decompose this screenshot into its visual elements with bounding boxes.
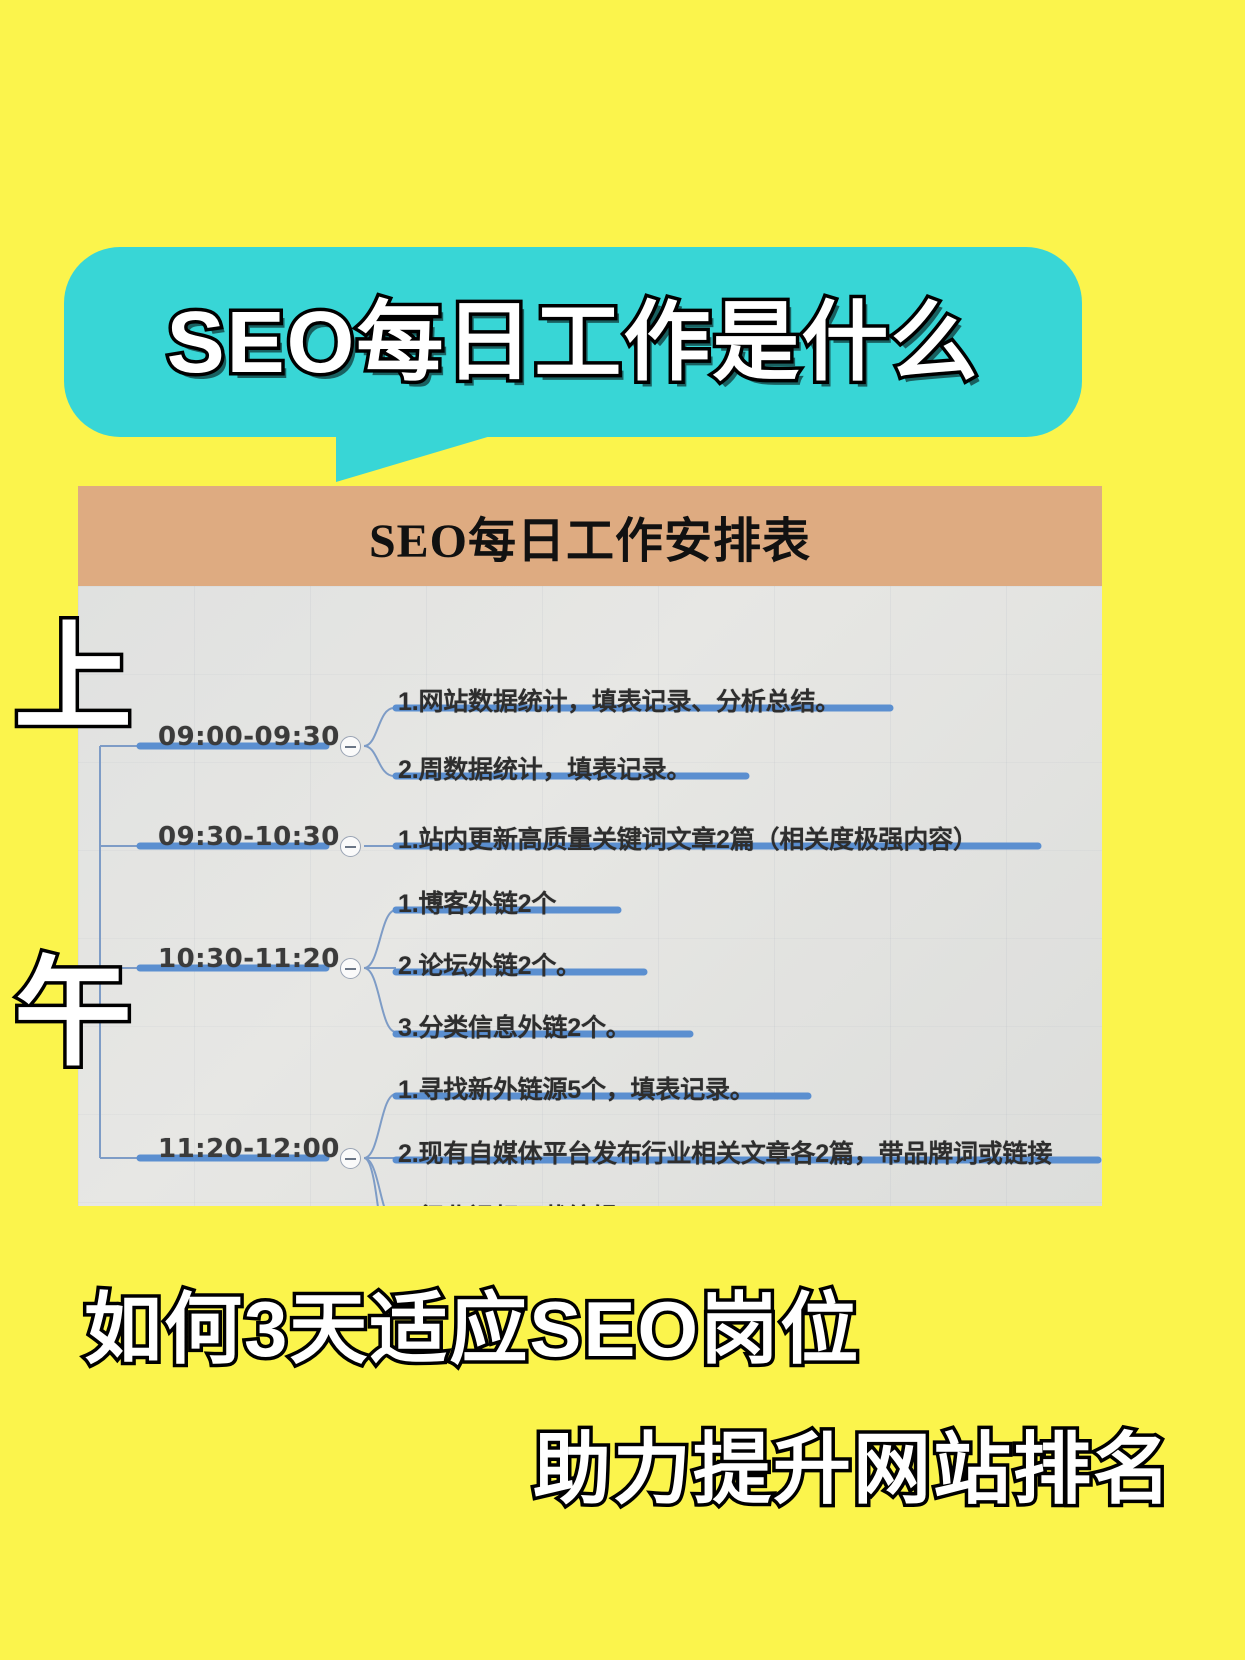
collapse-toggle-2[interactable] [340,958,361,979]
mindmap-canvas[interactable]: 09:00-09:30 09:30-10:30 10:30-11:20 11:2… [78,586,1102,1206]
title-speech-bubble: SEO每日工作是什么 [64,247,1082,437]
task-node-1-0[interactable]: 1.站内更新高质量关键词文章2篇（相关度极强内容） [398,820,978,856]
task-node-2-2[interactable]: 3.分类信息外链2个。 [398,1008,631,1044]
task-node-0-0[interactable]: 1.网站数据统计，填表记录、分析总结。 [398,682,840,718]
collapse-toggle-3[interactable] [340,1148,361,1169]
task-node-0-1[interactable]: 2.周数据统计，填表记录。 [398,750,691,786]
card-header-title: SEO每日工作安排表 [369,501,811,571]
task-node-2-1[interactable]: 2.论坛外链2个。 [398,946,581,982]
time-label-0900-0930: 09:00-09:30 [158,722,340,752]
bottom-caption-line-2: 助力提升网站排名 [533,1430,1173,1508]
task-node-3-2[interactable]: 3.行业视频下载编辑 [398,1198,617,1206]
time-label-1120-1200: 11:20-12:00 [158,1134,340,1164]
time-label-0930-1030: 09:30-10:30 [158,822,340,852]
side-label-morning-char-2: 午 [14,955,134,1073]
page-title: SEO每日工作是什么 [167,299,980,386]
collapse-toggle-0[interactable] [340,736,361,757]
bottom-caption-line-1: 如何3天适应SEO岗位 [84,1290,860,1368]
speech-bubble-tail [336,430,511,482]
mindmap-connectors [78,586,1102,1206]
task-node-3-1[interactable]: 2.现有自媒体平台发布行业相关文章各2篇，带品牌词或链接 [398,1134,1052,1170]
side-label-morning-char-1: 上 [14,620,134,738]
task-node-2-0[interactable]: 1.博客外链2个 [398,884,556,920]
schedule-card: SEO每日工作安排表 [78,486,1102,1206]
task-node-3-0[interactable]: 1.寻找新外链源5个，填表记录。 [398,1070,755,1106]
card-header: SEO每日工作安排表 [78,486,1102,586]
collapse-toggle-1[interactable] [340,836,361,857]
time-label-1030-1120: 10:30-11:20 [158,944,340,974]
